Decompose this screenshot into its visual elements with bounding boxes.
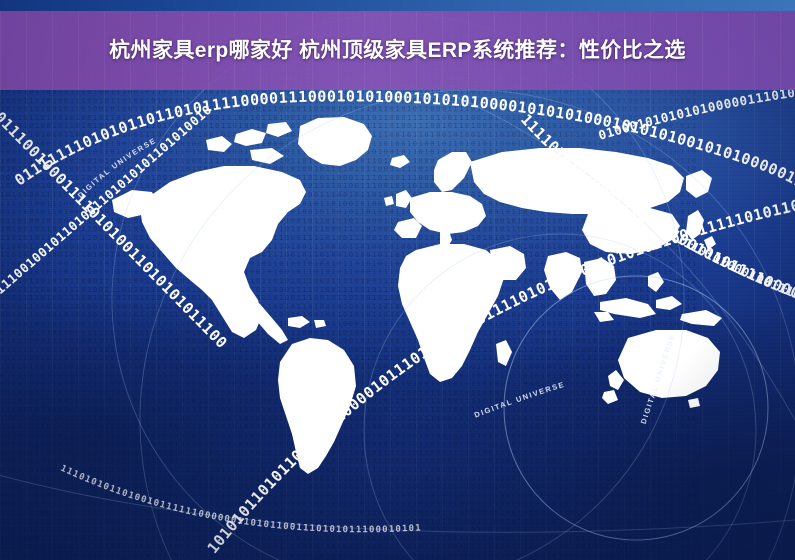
hero-banner-image: 0111101001110010110100101001011010101100…: [0, 0, 795, 560]
brand-label-right: DIGITAL UNIVERSE: [639, 332, 677, 425]
page-title: 杭州家具erp哪家好 杭州顶级家具ERP系统推荐：性价比之选: [109, 36, 686, 65]
brand-label-south: DIGITAL UNIVERSE: [473, 380, 566, 420]
binary-stream-left-descending: 0111001000111101010011010101011100: [0, 108, 231, 352]
title-banner: 杭州家具erp哪家好 杭州顶级家具ERP系统推荐：性价比之选: [0, 11, 795, 90]
top-edge-strip: [0, 0, 795, 11]
binary-stream-south-arc: 1110101011010010111111000000110101100111…: [59, 464, 422, 536]
